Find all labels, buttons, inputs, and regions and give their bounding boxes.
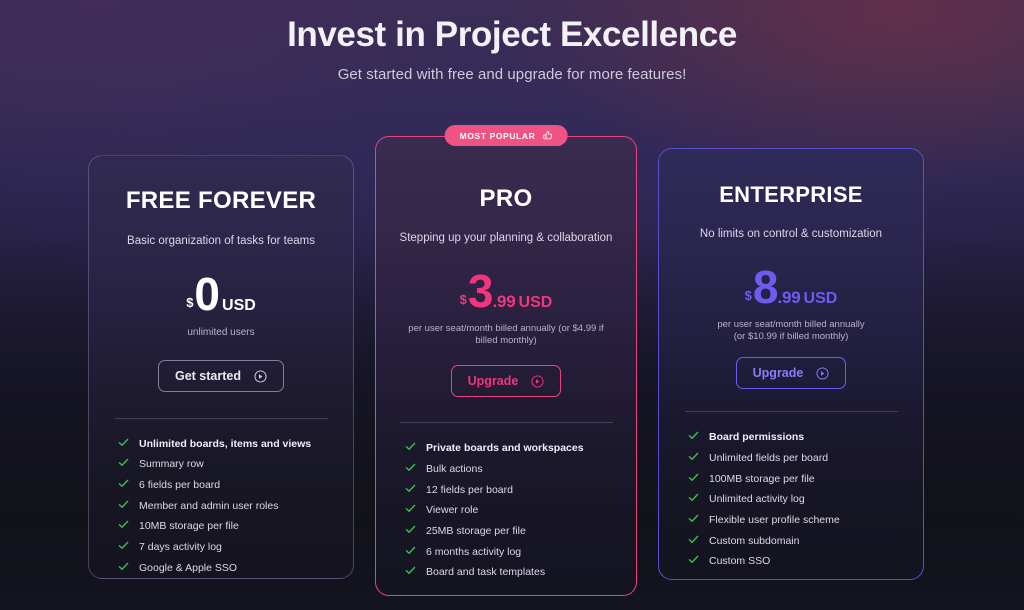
page-title: Invest in Project Excellence: [0, 13, 1024, 57]
list-item: 10MB storage per file: [118, 516, 353, 537]
feature-list-enterprise: Board permissions Unlimited fields per b…: [659, 427, 923, 572]
check-icon: [688, 513, 699, 527]
currency-symbol: $: [745, 289, 752, 302]
check-icon: [688, 472, 699, 486]
check-icon: [688, 554, 699, 568]
feature-label: Board and task templates: [426, 566, 545, 578]
check-icon: [118, 478, 129, 492]
list-item: 7 days activity log: [118, 537, 353, 558]
price-currency-code: USD: [519, 295, 553, 311]
plan-price-pro: $ 3 .99 USD: [460, 268, 553, 314]
list-item: 25MB storage per file: [405, 521, 636, 542]
plan-name-pro: PRO: [480, 185, 533, 213]
list-item: 100MB storage per file: [688, 468, 923, 489]
feature-label: Unlimited activity log: [709, 493, 805, 505]
list-item: Unlimited activity log: [688, 489, 923, 510]
plan-price-free: $ 0 USD: [186, 271, 256, 317]
check-icon: [118, 437, 129, 451]
feature-label: 10MB storage per file: [139, 520, 239, 532]
badge-label: MOST POPULAR: [460, 131, 536, 141]
list-item: Custom subdomain: [688, 530, 923, 551]
feature-label: Custom SSO: [709, 555, 770, 567]
price-note-pro: per user seat/month billed annually (or …: [376, 323, 636, 347]
feature-list-free: Unlimited boards, items and views Summar…: [89, 433, 353, 578]
price-note-free: unlimited users: [167, 327, 274, 339]
feature-label: Google & Apple SSO: [139, 562, 237, 574]
check-icon: [688, 492, 699, 506]
currency-symbol: $: [186, 296, 193, 309]
price-amount: 8: [753, 264, 778, 310]
list-item: Private boards and workspaces: [405, 438, 636, 459]
check-icon: [405, 524, 416, 538]
check-icon: [405, 462, 416, 476]
price-note-enterprise: per user seat/month billed annually (or …: [659, 319, 923, 343]
list-item: Flexible user profile scheme: [688, 510, 923, 531]
list-item: Unlimited boards, items and views: [118, 433, 353, 454]
feature-label: 25MB storage per file: [426, 525, 526, 537]
pricing-card-pro: MOST POPULAR PRO Stepping up your planni…: [375, 136, 637, 596]
feature-label: Unlimited fields per board: [709, 452, 828, 464]
feature-label: Board permissions: [709, 431, 804, 443]
check-icon: [405, 503, 416, 517]
check-icon: [688, 451, 699, 465]
upgrade-button-pro[interactable]: Upgrade: [451, 365, 562, 397]
check-icon: [118, 561, 129, 575]
feature-label: Summary row: [139, 458, 204, 470]
page-subtitle: Get started with free and upgrade for mo…: [0, 66, 1024, 83]
page-header: Invest in Project Excellence Get started…: [0, 0, 1024, 83]
feature-label: 7 days activity log: [139, 541, 222, 553]
cta-label: Upgrade: [753, 366, 804, 380]
circle-arrow-right-icon: [531, 375, 544, 388]
pricing-card-free: FREE FOREVER Basic organization of tasks…: [88, 155, 354, 579]
list-item: Viewer role: [405, 500, 636, 521]
cta-label: Get started: [175, 369, 241, 383]
cta-label: Upgrade: [468, 374, 519, 388]
feature-label: Custom subdomain: [709, 535, 799, 547]
check-icon: [118, 457, 129, 471]
check-icon: [405, 483, 416, 497]
list-item: Member and admin user roles: [118, 495, 353, 516]
list-item: Summary row: [118, 454, 353, 475]
feature-label: Member and admin user roles: [139, 500, 278, 512]
list-item: Board permissions: [688, 427, 923, 448]
pricing-cards: FREE FOREVER Basic organization of tasks…: [0, 136, 1024, 606]
check-icon: [688, 430, 699, 444]
list-item: 6 fields per board: [118, 475, 353, 496]
price-cents: .99: [493, 293, 516, 310]
feature-label: Bulk actions: [426, 463, 483, 475]
feature-label: 12 fields per board: [426, 484, 513, 496]
feature-label: 6 fields per board: [139, 479, 220, 491]
list-item: 12 fields per board: [405, 479, 636, 500]
check-icon: [688, 534, 699, 548]
check-icon: [405, 565, 416, 579]
feature-label: 100MB storage per file: [709, 473, 815, 485]
list-item: Bulk actions: [405, 459, 636, 480]
feature-label: Flexible user profile scheme: [709, 514, 840, 526]
list-item: Google & Apple SSO: [118, 557, 353, 578]
plan-tagline-enterprise: No limits on control & customization: [686, 227, 896, 242]
feature-list-pro: Private boards and workspaces Bulk actio…: [376, 438, 636, 583]
plan-name-enterprise: ENTERPRISE: [719, 182, 863, 208]
plan-tagline-pro: Stepping up your planning & collaboratio…: [386, 231, 627, 246]
price-cents: .99: [778, 289, 801, 306]
feature-label: Private boards and workspaces: [426, 442, 584, 454]
price-currency-code: USD: [804, 291, 838, 307]
card-divider: [400, 422, 613, 423]
check-icon: [118, 540, 129, 554]
upgrade-button-enterprise[interactable]: Upgrade: [736, 357, 847, 389]
check-icon: [405, 441, 416, 455]
feature-label: Unlimited boards, items and views: [139, 438, 311, 450]
thumbs-up-icon: [542, 130, 553, 141]
price-amount: 3: [468, 268, 493, 314]
pricing-card-enterprise: ENTERPRISE No limits on control & custom…: [658, 148, 924, 580]
check-icon: [118, 499, 129, 513]
currency-symbol: $: [460, 293, 467, 306]
circle-arrow-right-icon: [816, 367, 829, 380]
list-item: Custom SSO: [688, 551, 923, 572]
most-popular-badge: MOST POPULAR: [445, 125, 568, 146]
circle-arrow-right-icon: [254, 370, 267, 383]
price-amount: 0: [194, 271, 219, 317]
plan-tagline-free: Basic organization of tasks for teams: [113, 234, 329, 249]
list-item: Board and task templates: [405, 562, 636, 583]
plan-price-enterprise: $ 8 .99 USD: [745, 264, 838, 310]
check-icon: [405, 545, 416, 559]
check-icon: [118, 519, 129, 533]
price-currency-code: USD: [222, 298, 256, 314]
feature-label: 6 months activity log: [426, 546, 521, 558]
card-divider: [685, 411, 898, 412]
list-item: Unlimited fields per board: [688, 448, 923, 469]
plan-name-free: FREE FOREVER: [126, 187, 316, 215]
feature-label: Viewer role: [426, 504, 478, 516]
get-started-button[interactable]: Get started: [158, 360, 284, 392]
list-item: 6 months activity log: [405, 541, 636, 562]
